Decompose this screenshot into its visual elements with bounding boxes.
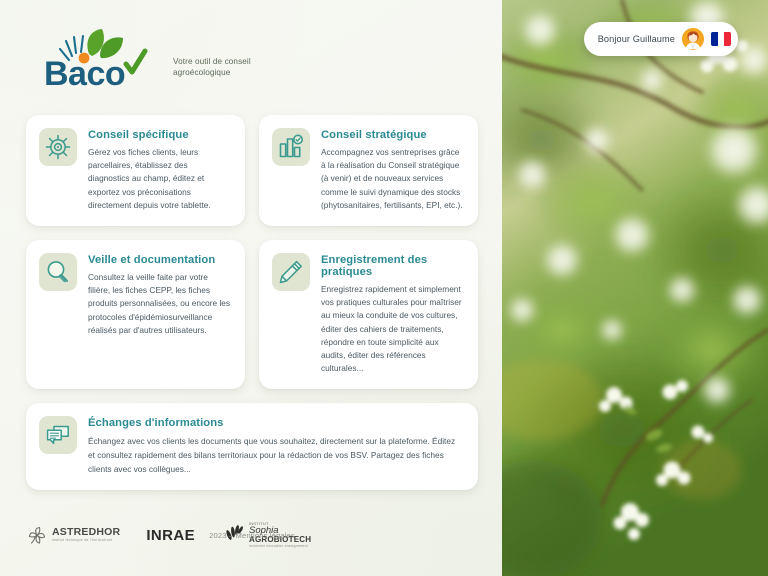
card-body: Conseil spécifique Gérez vos fiches clie… bbox=[88, 128, 231, 212]
sophia-line4: recherche innovation enseignement bbox=[249, 545, 311, 548]
card-text: Accompagnez vos sentreprises grâce à la … bbox=[321, 146, 464, 212]
baco-leaf-logo-icon: Baco bbox=[42, 26, 164, 88]
blossom-branch-photo bbox=[502, 0, 768, 576]
card-body: Enregistrement des pratiques Enregistrez… bbox=[321, 253, 464, 375]
card-title: Échanges d'informations bbox=[88, 417, 464, 429]
greeting-badge[interactable]: Bonjour Guillaume bbox=[584, 22, 738, 56]
feature-cards: Conseil spécifique Gérez vos fiches clie… bbox=[26, 115, 478, 490]
svg-text:Baco: Baco bbox=[44, 55, 125, 88]
brand-tagline: Votre outil de conseil agroécologique bbox=[173, 56, 263, 88]
card-title: Conseil spécifique bbox=[88, 129, 231, 141]
chat-bubbles-icon bbox=[39, 416, 77, 454]
astredhor-subtitle: institut technique de l'horticulture bbox=[52, 539, 120, 542]
app-root: Baco Votre outil de conseil agroécologiq… bbox=[0, 0, 768, 576]
bar-chart-check-icon bbox=[272, 128, 310, 166]
card-text: Gérez vos fiches clients, leurs parcella… bbox=[88, 146, 231, 212]
card-body: Échanges d'informations Échangez avec vo… bbox=[88, 416, 464, 476]
card-echanges-informations[interactable]: Échanges d'informations Échangez avec vo… bbox=[26, 403, 478, 490]
card-title: Enregistrement des pratiques bbox=[321, 254, 464, 278]
card-text: Échangez avec vos clients les documents … bbox=[88, 434, 464, 476]
card-veille-documentation[interactable]: Veille et documentation Consultez la vei… bbox=[26, 240, 245, 389]
card-enregistrement-pratiques[interactable]: Enregistrement des pratiques Enregistrez… bbox=[259, 240, 478, 389]
magnifier-icon bbox=[39, 253, 77, 291]
card-title: Veille et documentation bbox=[88, 254, 231, 266]
card-title: Conseil stratégique bbox=[321, 129, 464, 141]
legal-notice[interactable]: 2023 – Mentions légales bbox=[26, 531, 478, 540]
greeting-text: Bonjour Guillaume bbox=[598, 34, 675, 44]
target-crosshair-icon bbox=[39, 128, 77, 166]
card-text: Consultez la veille faite par votre fili… bbox=[88, 271, 231, 337]
card-text: Enregistrez rapidement et simplement vos… bbox=[321, 283, 464, 375]
brand-logo[interactable]: Baco Votre outil de conseil agroécologiq… bbox=[42, 26, 263, 88]
card-conseil-specifique[interactable]: Conseil spécifique Gérez vos fiches clie… bbox=[26, 115, 245, 226]
card-body: Conseil stratégique Accompagnez vos sent… bbox=[321, 128, 464, 212]
pencil-icon bbox=[272, 253, 310, 291]
user-avatar[interactable] bbox=[682, 28, 704, 50]
card-body: Veille et documentation Consultez la vei… bbox=[88, 253, 231, 337]
left-panel: Baco Votre outil de conseil agroécologiq… bbox=[0, 0, 502, 576]
flag-france-icon[interactable] bbox=[711, 32, 731, 46]
footer: ASTREDHOR institut technique de l'hortic… bbox=[26, 512, 478, 558]
card-conseil-strategique[interactable]: Conseil stratégique Accompagnez vos sent… bbox=[259, 115, 478, 226]
hero-photo-panel: Bonjour Guillaume bbox=[502, 0, 768, 576]
